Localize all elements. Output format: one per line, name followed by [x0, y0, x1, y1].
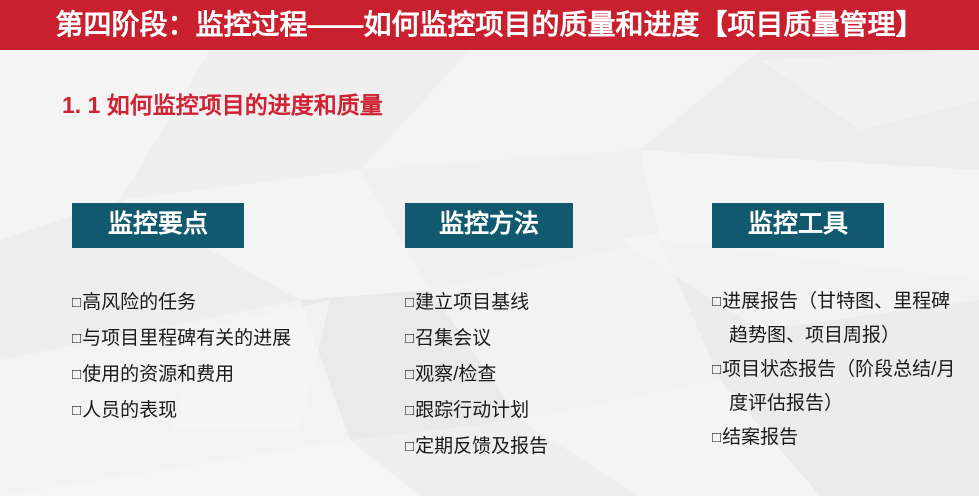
list-item: □进展报告（甘特图、里程碑趋势图、项目周报）: [712, 285, 957, 353]
list-item-text: 使用的资源和费用: [82, 364, 234, 385]
column-bullet-list: □进展报告（甘特图、里程碑趋势图、项目周报） □项目状态报告（阶段总结/月度评估…: [712, 285, 957, 455]
list-item-text: 定期反馈及报告: [415, 436, 548, 457]
square-bullet-icon: □: [712, 361, 721, 378]
square-bullet-icon: □: [405, 294, 414, 311]
column-monitoring-points: 监控要点 □高风险的任务 □与项目里程碑有关的进展 □使用的资源和费用 □人员的…: [72, 203, 392, 429]
list-item-text: 跟踪行动计划: [415, 400, 529, 421]
list-item-text: 项目状态报告（阶段总结/月度评估报告）: [722, 359, 955, 414]
column-monitoring-methods: 监控方法 □建立项目基线 □召集会议 □观察/检查 □跟踪行动计划 □定期反馈及…: [405, 203, 705, 465]
content-columns: 监控要点 □高风险的任务 □与项目里程碑有关的进展 □使用的资源和费用 □人员的…: [0, 0, 979, 496]
column-header-badge: 监控要点: [72, 203, 244, 248]
list-item: □与项目里程碑有关的进展: [72, 321, 392, 357]
list-item-text: 与项目里程碑有关的进展: [82, 328, 291, 349]
square-bullet-icon: □: [405, 330, 414, 347]
square-bullet-icon: □: [72, 402, 81, 419]
list-item: □观察/检查: [405, 357, 705, 393]
square-bullet-icon: □: [72, 294, 81, 311]
slide-subtitle: 1. 1 如何监控项目的进度和质量: [62, 86, 383, 120]
list-item-text: 进展报告（甘特图、里程碑趋势图、项目周报）: [722, 291, 950, 346]
square-bullet-icon: □: [405, 402, 414, 419]
column-header-badge: 监控方法: [405, 203, 573, 248]
list-item: □使用的资源和费用: [72, 357, 392, 393]
column-bullet-list: □建立项目基线 □召集会议 □观察/检查 □跟踪行动计划 □定期反馈及报告: [405, 285, 705, 465]
square-bullet-icon: □: [405, 438, 414, 455]
list-item-text: 召集会议: [415, 328, 491, 349]
list-item: □高风险的任务: [72, 285, 392, 321]
list-item: □定期反馈及报告: [405, 429, 705, 465]
square-bullet-icon: □: [712, 293, 721, 310]
column-bullet-list: □高风险的任务 □与项目里程碑有关的进展 □使用的资源和费用 □人员的表现: [72, 285, 392, 429]
square-bullet-icon: □: [72, 330, 81, 347]
slide-title: 第四阶段：监控过程——如何监控项目的质量和进度【项目质量管理】: [55, 11, 923, 39]
slide-root: 第四阶段：监控过程——如何监控项目的质量和进度【项目质量管理】 1. 1 如何监…: [0, 0, 979, 496]
list-item: □召集会议: [405, 321, 705, 357]
list-item-text: 建立项目基线: [415, 292, 529, 313]
list-item: □人员的表现: [72, 393, 392, 429]
list-item-text: 结案报告: [722, 427, 798, 448]
list-item: □建立项目基线: [405, 285, 705, 321]
slide-title-banner: 第四阶段：监控过程——如何监控项目的质量和进度【项目质量管理】: [0, 0, 979, 50]
column-header-badge: 监控工具: [712, 203, 884, 248]
list-item: □项目状态报告（阶段总结/月度评估报告）: [712, 353, 957, 421]
list-item-text: 观察/检查: [415, 364, 496, 385]
list-item: □跟踪行动计划: [405, 393, 705, 429]
square-bullet-icon: □: [712, 429, 721, 446]
list-item-text: 人员的表现: [82, 400, 177, 421]
square-bullet-icon: □: [72, 366, 81, 383]
list-item: □结案报告: [712, 421, 957, 455]
list-item-text: 高风险的任务: [82, 292, 196, 313]
column-monitoring-tools: 监控工具 □进展报告（甘特图、里程碑趋势图、项目周报） □项目状态报告（阶段总结…: [712, 203, 957, 455]
square-bullet-icon: □: [405, 366, 414, 383]
